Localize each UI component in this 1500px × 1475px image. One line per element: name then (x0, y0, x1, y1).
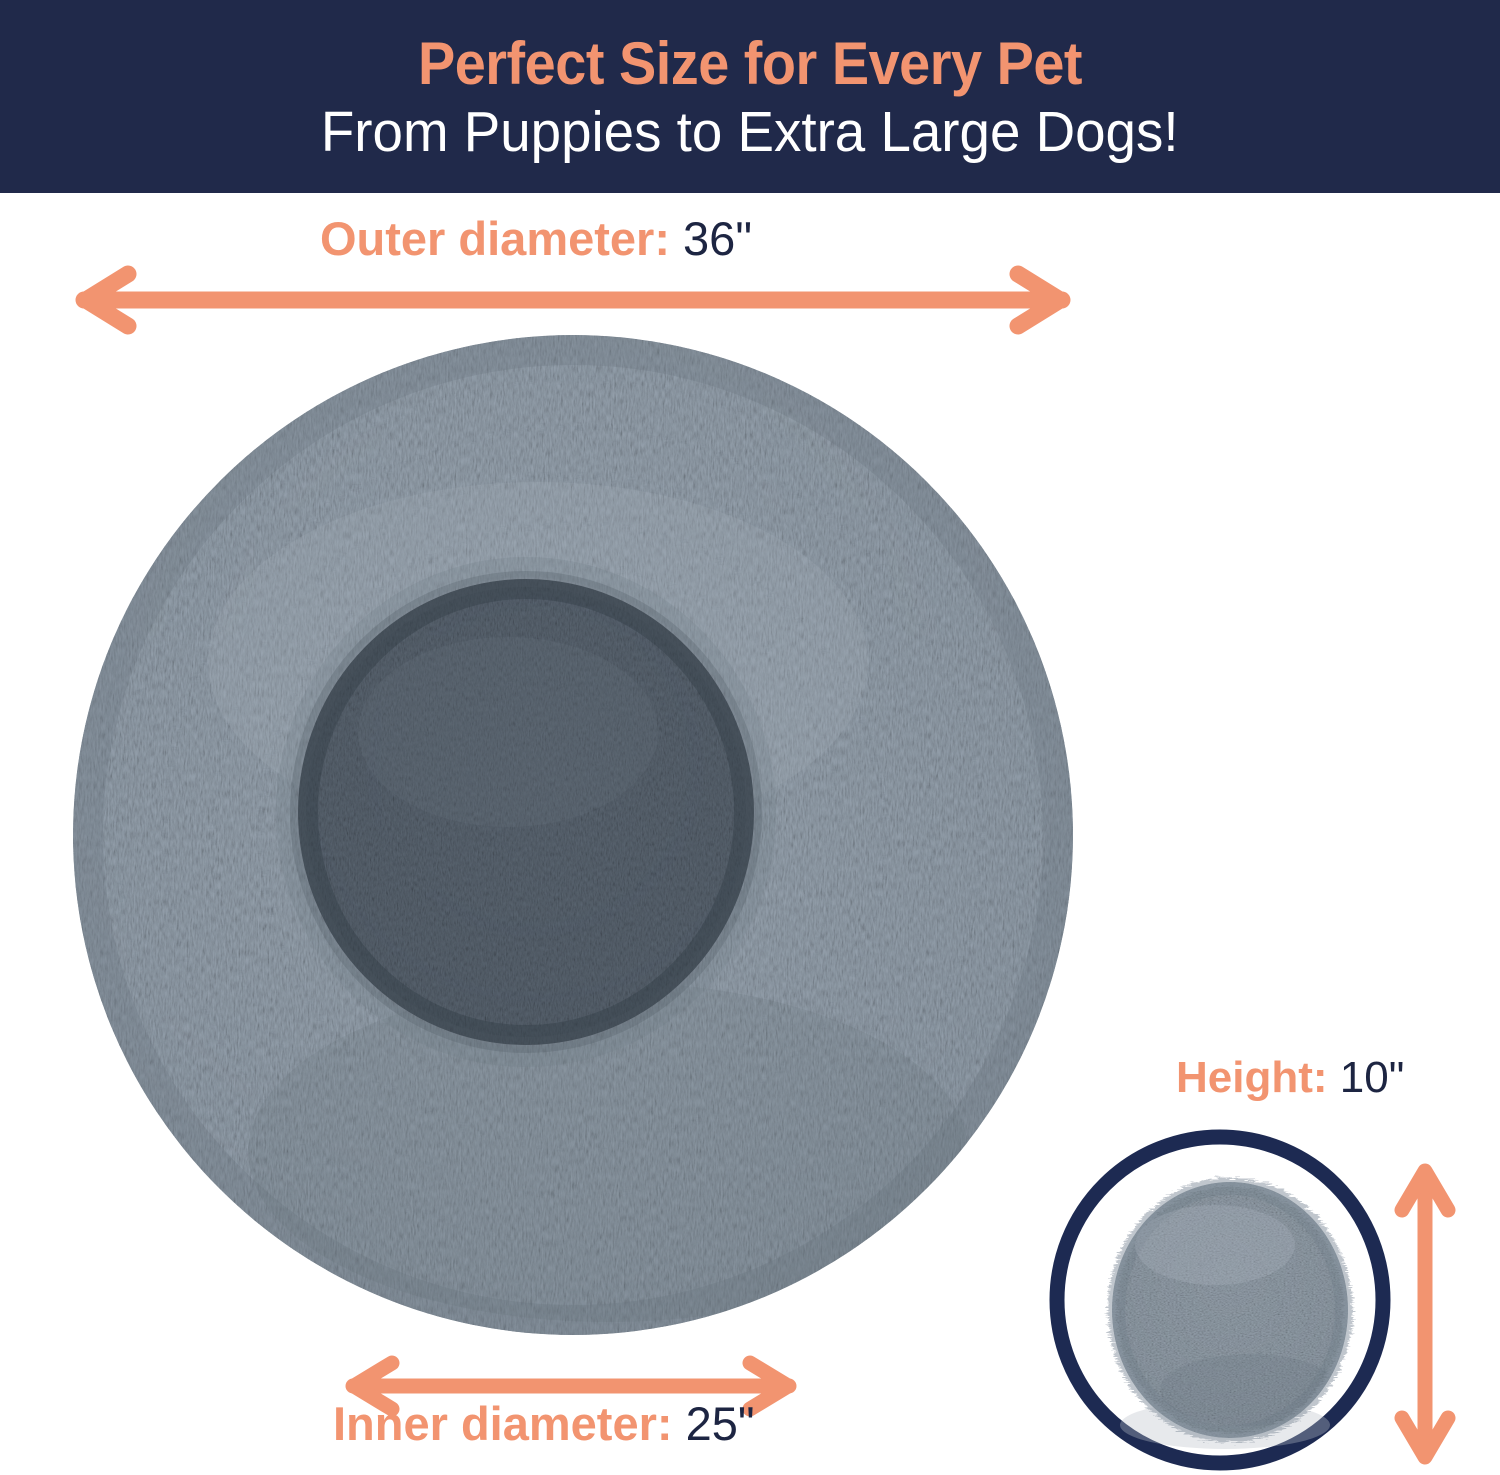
inner-diameter-label-text: Inner diameter: (333, 1397, 673, 1450)
height-value: 10" (1340, 1053, 1405, 1102)
pet-bed-side-view-inset (1050, 1125, 1400, 1475)
banner-headline: Perfect Size for Every Pet (418, 32, 1082, 95)
pet-bed-side-view-graphic (1050, 1125, 1400, 1475)
header-banner: Perfect Size for Every Pet From Puppies … (0, 0, 1500, 193)
outer-diameter-arrow-icon (70, 268, 1076, 332)
inner-diameter-label: Inner diameter: 25" (333, 1400, 755, 1447)
pet-bed-top-view-graphic (68, 332, 1078, 1338)
pet-bed-top-view (68, 332, 1078, 1338)
height-label-text: Height: (1176, 1053, 1328, 1102)
inner-diameter-value: 25" (686, 1397, 755, 1450)
product-size-infographic: Perfect Size for Every Pet From Puppies … (0, 0, 1500, 1475)
banner-subheadline: From Puppies to Extra Large Dogs! (321, 101, 1179, 165)
height-label: Height: 10" (1176, 1056, 1404, 1100)
outer-diameter-label: Outer diameter: 36" (320, 215, 752, 262)
outer-diameter-value: 36" (683, 212, 752, 265)
height-arrow-icon (1396, 1158, 1454, 1470)
outer-diameter-label-text: Outer diameter: (320, 212, 670, 265)
